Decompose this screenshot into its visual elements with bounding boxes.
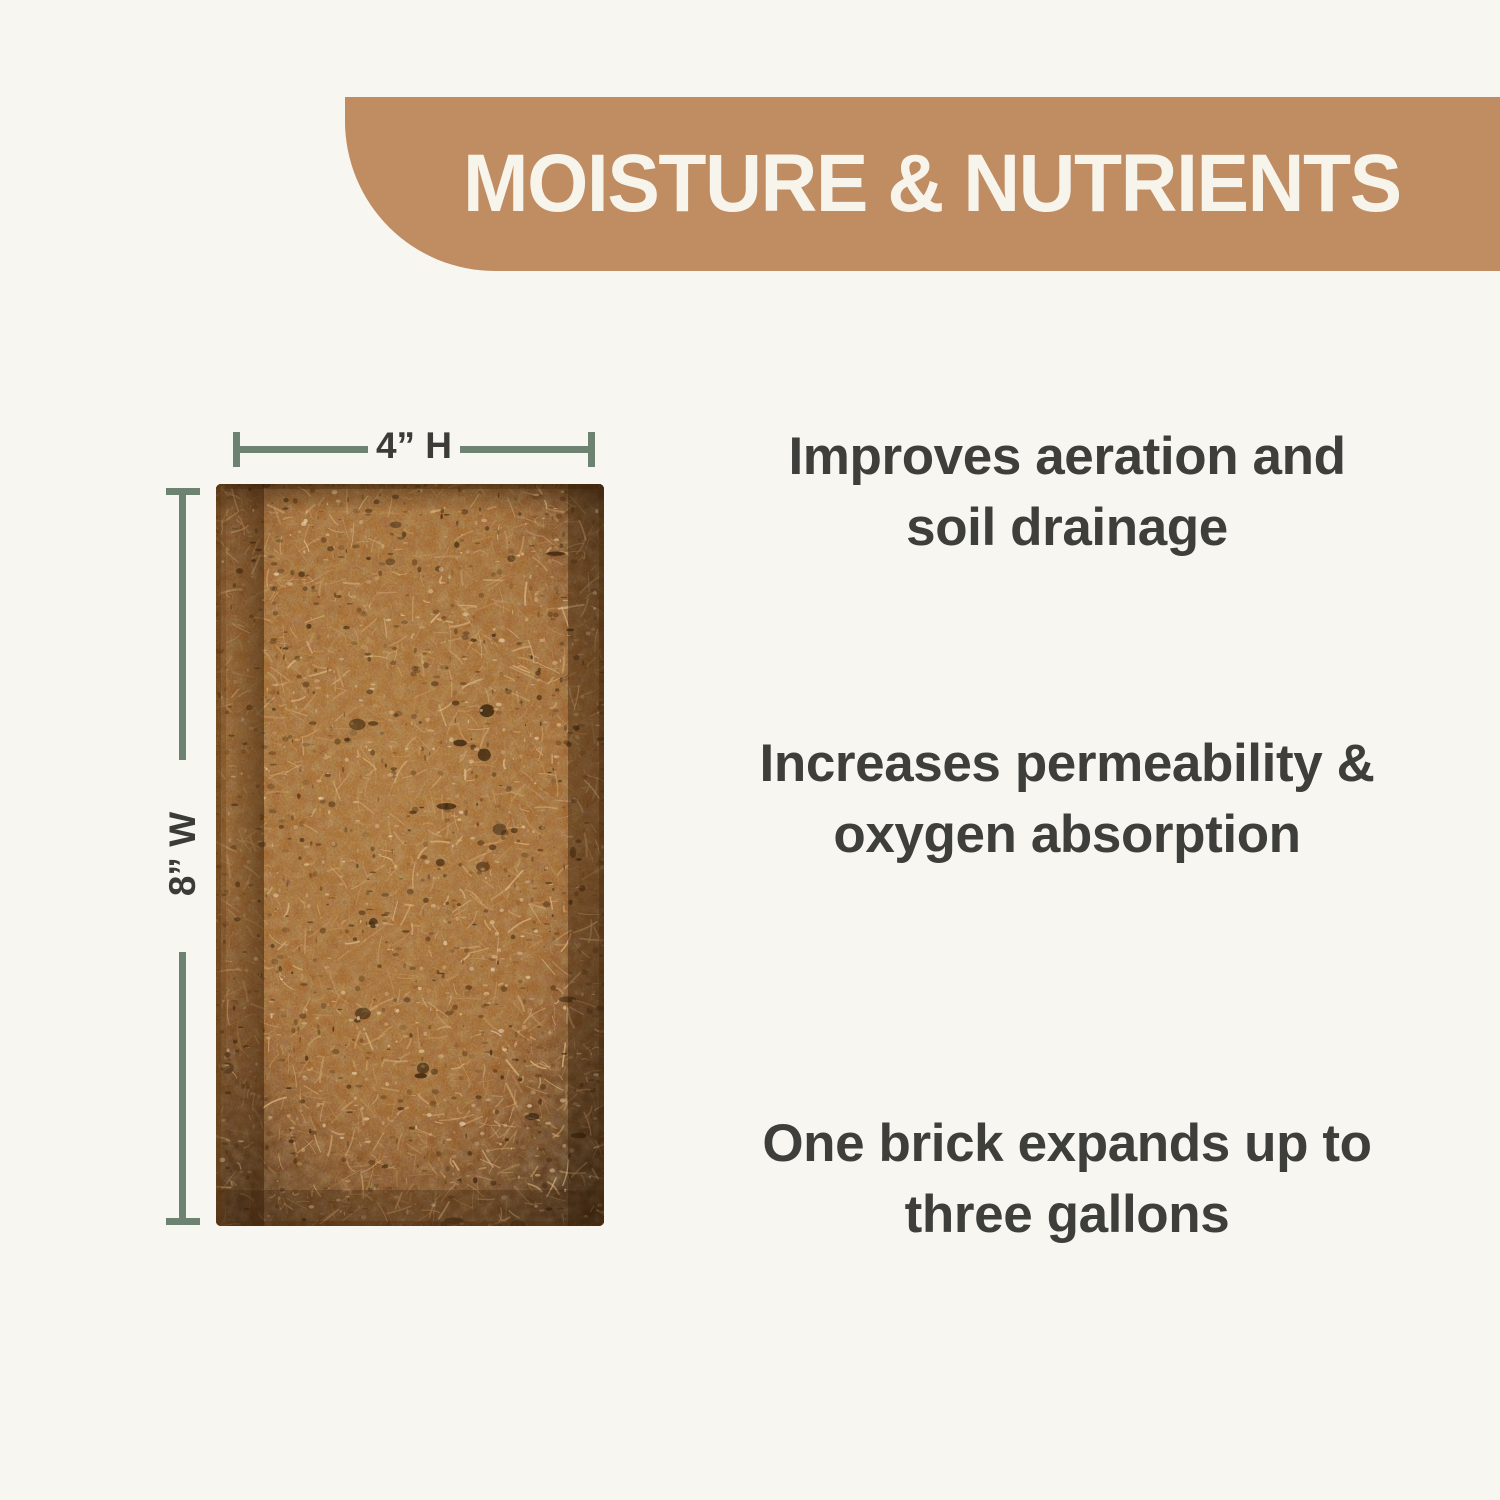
height-ruler-line-bottom [179,952,186,1220]
height-ruler-line-top [179,492,186,760]
width-dimension-label: 4” H [368,424,460,468]
width-ruler-line-left [236,446,368,453]
width-ruler-cap-right [588,432,595,467]
page-title: MOISTURE & NUTRIENTS [463,143,1401,225]
coir-texture [216,484,604,1226]
benefit-text-2: Increases permeability & oxygen absorpti… [757,728,1377,870]
coco-coir-brick-image [216,484,604,1226]
benefit-text-1: Improves aeration and soil drainage [757,421,1377,563]
infographic-canvas: MOISTURE & NUTRIENTS 4” H 8” W [0,0,1500,1500]
height-ruler-cap-bottom [166,1218,200,1225]
benefit-text-3: One brick expands up to three gallons [757,1108,1377,1250]
header-banner: MOISTURE & NUTRIENTS [345,97,1500,271]
width-ruler-line-right [460,446,594,453]
height-dimension-label: 8” W [161,802,205,906]
